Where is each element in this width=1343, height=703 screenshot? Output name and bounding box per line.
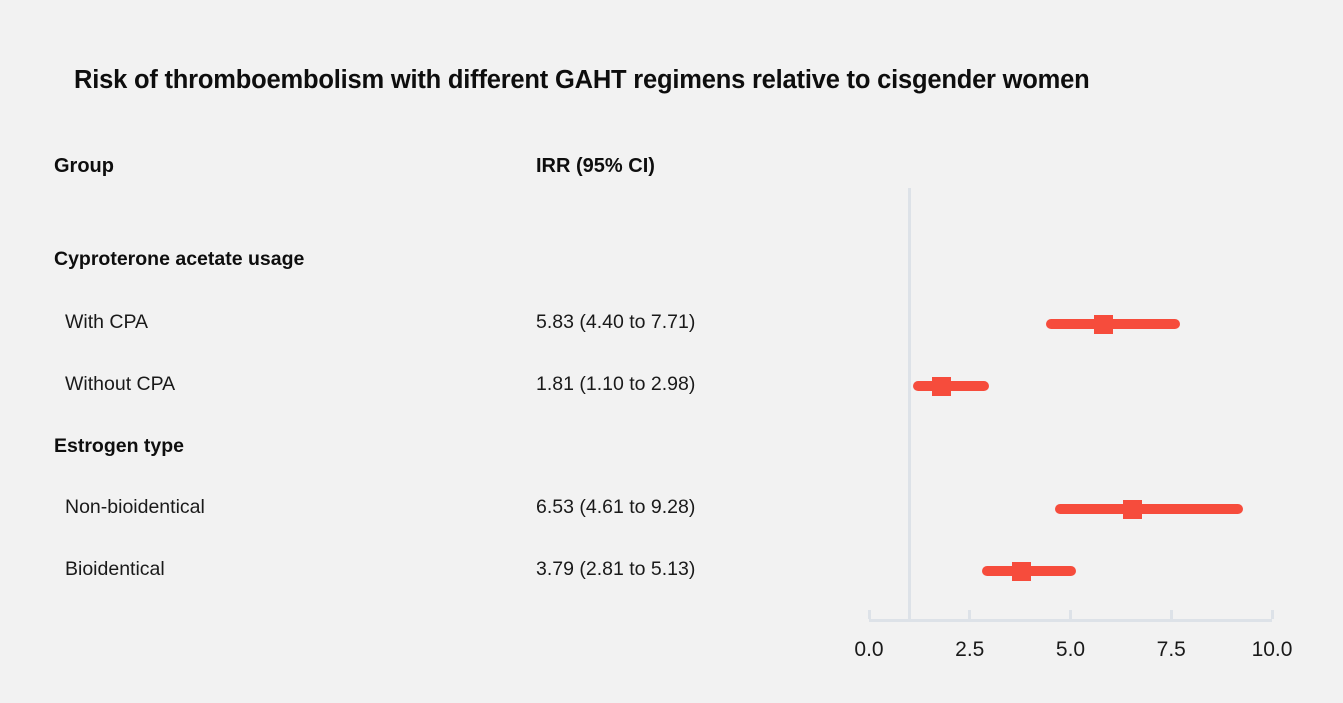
plot-area: 0.02.55.07.510.0 [0,0,1343,703]
forest-plot-figure: Risk of thromboembolism with different G… [0,0,1343,703]
axis-tick-label: 2.5 [955,638,984,662]
confidence-interval-bar [913,381,989,391]
column-header-group: Group [54,155,114,178]
row-label: Without CPA [65,373,175,396]
row-value-irr: 1.81 (1.10 to 2.98) [536,373,695,396]
subgroup-header: Estrogen type [54,435,184,458]
point-estimate-marker [1012,562,1031,581]
subgroup-header: Cyproterone acetate usage [54,248,304,271]
axis-tick [968,610,971,619]
confidence-interval-bar [982,566,1075,576]
row-label: With CPA [65,311,148,334]
axis-tick-label: 5.0 [1056,638,1085,662]
axis-tick [1069,610,1072,619]
row-value-irr: 6.53 (4.61 to 9.28) [536,496,695,519]
row-label: Bioidentical [65,558,165,581]
axis-tick [868,610,871,619]
axis-tick-label: 0.0 [854,638,883,662]
row-label: Non-bioidentical [65,496,205,519]
confidence-interval-bar [1055,504,1243,514]
axis-tick-label: 10.0 [1252,638,1293,662]
axis-tick-label: 7.5 [1157,638,1186,662]
axis-tick [1271,610,1274,619]
point-estimate-marker [1123,500,1142,519]
page-title: Risk of thromboembolism with different G… [74,66,1294,95]
row-value-irr: 3.79 (2.81 to 5.13) [536,558,695,581]
axis-tick [1170,610,1173,619]
confidence-interval-bar [1046,319,1179,329]
point-estimate-marker [1094,315,1113,334]
column-header-irr: IRR (95% CI) [536,155,655,178]
point-estimate-marker [932,377,951,396]
null-reference-line [908,188,911,619]
x-axis-line [869,619,1272,622]
row-value-irr: 5.83 (4.40 to 7.71) [536,311,695,334]
